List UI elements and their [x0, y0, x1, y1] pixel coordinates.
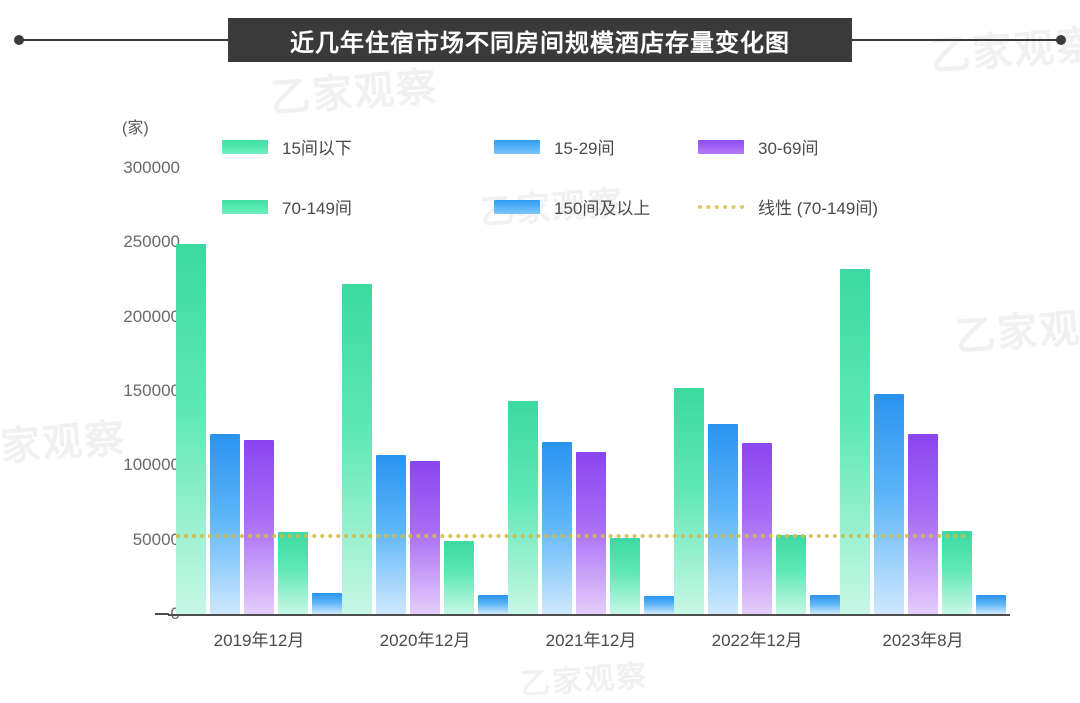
bars-layer [176, 0, 1010, 614]
trendline-70-149 [176, 534, 966, 538]
bar[interactable] [210, 434, 240, 614]
bar[interactable] [278, 532, 308, 614]
y-axis-tick-label: 250000 [10, 232, 180, 252]
bar[interactable] [610, 538, 640, 614]
bar[interactable] [742, 443, 772, 614]
bar[interactable] [874, 394, 904, 614]
y-axis-tick-label: 100000 [10, 455, 180, 475]
y-axis-zero-tick [155, 613, 169, 615]
bar[interactable] [776, 535, 806, 614]
x-axis-tick-label: 2020年12月 [380, 626, 471, 651]
y-axis-tick-label: 300000 [10, 158, 180, 178]
x-axis-tick-label: 2022年12月 [712, 626, 803, 651]
bar[interactable] [444, 541, 474, 614]
bar[interactable] [976, 595, 1006, 614]
x-axis-tick-label: 2023年8月 [882, 626, 963, 651]
bar[interactable] [542, 442, 572, 614]
x-axis: 2019年12月2020年12月2021年12月2022年12月2023年8月 [176, 626, 1010, 656]
bar-group [176, 0, 342, 614]
bar[interactable] [908, 434, 938, 614]
bar[interactable] [342, 284, 372, 614]
bar[interactable] [840, 269, 870, 614]
bar[interactable] [176, 244, 206, 614]
bar[interactable] [312, 593, 342, 614]
y-axis-tick-label: 50000 [10, 530, 180, 550]
x-axis-baseline [168, 614, 1010, 616]
bar[interactable] [576, 452, 606, 614]
bar-group [508, 0, 674, 614]
y-axis: 300000250000200000150000100000500000 [0, 0, 180, 696]
bar-group [342, 0, 508, 614]
bar-group [674, 0, 840, 614]
y-axis-tick-label: 200000 [10, 307, 180, 327]
bar[interactable] [674, 388, 704, 614]
bar[interactable] [942, 531, 972, 614]
bar[interactable] [810, 595, 840, 614]
x-axis-tick-label: 2021年12月 [546, 626, 637, 651]
x-axis-tick-label: 2019年12月 [214, 626, 305, 651]
bar[interactable] [478, 595, 508, 614]
chart-plot-area: 300000250000200000150000100000500000 201… [0, 0, 1080, 696]
bar[interactable] [708, 424, 738, 614]
bar-group [840, 0, 1006, 614]
y-axis-tick-label: 150000 [10, 381, 180, 401]
bar[interactable] [244, 440, 274, 614]
bar[interactable] [644, 596, 674, 614]
bar[interactable] [508, 401, 538, 614]
